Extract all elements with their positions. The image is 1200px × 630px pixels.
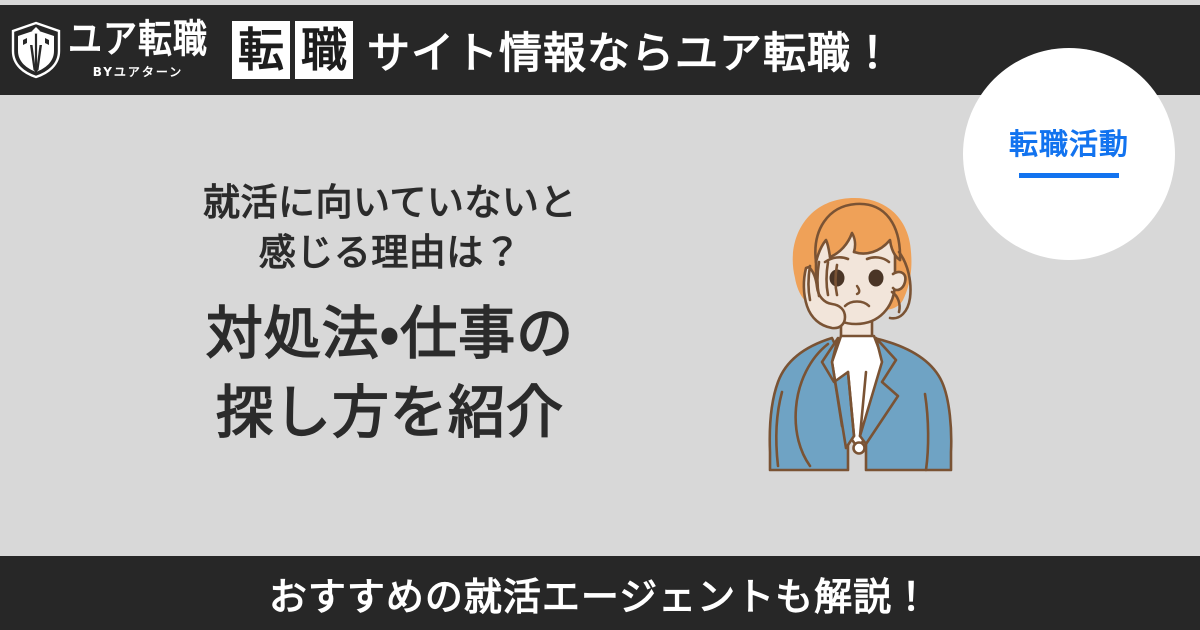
category-badge[interactable]: 転職活動: [963, 48, 1175, 260]
category-badge-underline: [1019, 173, 1119, 178]
title-block: 就活に向いていないと 感じる理由は？ 対処法・仕事の 探し方を紹介: [40, 178, 740, 452]
header-tagline-text: サイト情報ならユア転職！: [367, 19, 895, 81]
footer-bar: おすすめの就活エージェントも解説！: [0, 556, 1200, 630]
brand-wordmark: ユア転職 BYユアターン: [68, 23, 208, 78]
thumbnail-canvas: ユア転職 BYユアターン 転 職 サイト情報ならユア転職！ 転職活動 就活に向い…: [0, 0, 1200, 630]
header-tagline: 転 職 サイト情報ならユア転職！: [232, 19, 895, 81]
kanji-chip-ten: 転: [232, 21, 290, 79]
category-badge-label: 転職活動: [1009, 130, 1129, 159]
brand-main-text: ユア転職: [68, 20, 208, 59]
kanji-chip-shoku: 職: [295, 21, 353, 79]
brand-sub-text: BYユアターン: [93, 66, 184, 78]
page-title: 対処法・仕事の 探し方を紹介: [40, 295, 740, 452]
worried-businesswoman-illustration: [762, 186, 972, 480]
shield-logo-icon: [10, 21, 62, 79]
subtitle-text: 就活に向いていないと 感じる理由は？: [40, 178, 740, 277]
brand-logo[interactable]: ユア転職 BYユアターン: [10, 21, 208, 79]
footer-text: おすすめの就活エージェントも解説！: [269, 566, 931, 621]
